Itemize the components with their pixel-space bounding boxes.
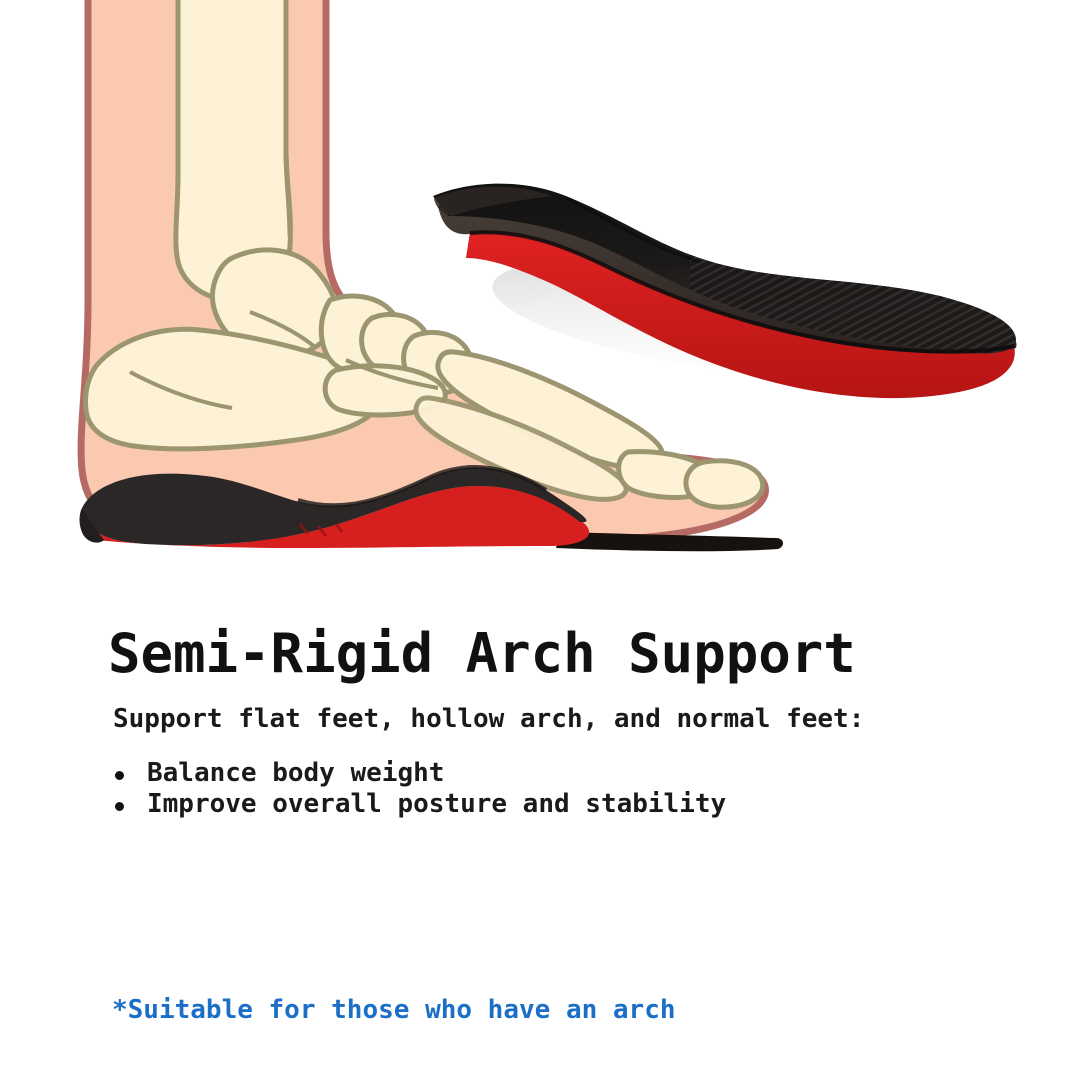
product-info-card: Semi-Rigid Arch Support Support flat fee… <box>0 0 1080 1080</box>
list-item: Improve overall posture and stability <box>113 789 726 820</box>
list-item-label: Improve overall posture and stability <box>147 789 726 819</box>
text-block: Semi-Rigid Arch Support Support flat fee… <box>0 600 1080 1080</box>
bullet-dot-icon <box>115 771 124 780</box>
foot-anatomy-illustration <box>0 0 1080 600</box>
page-title: Semi-Rigid Arch Support <box>108 622 856 685</box>
suitability-note-line-1: *Suitable for those who have an arch <box>112 995 676 1026</box>
list-item: Balance body weight <box>113 758 726 789</box>
list-item-label: Balance body weight <box>147 758 444 788</box>
subtitle: Support flat feet, hollow arch, and norm… <box>113 704 864 734</box>
bullet-dot-icon <box>115 802 124 811</box>
phalanx-bone-distal <box>686 461 763 507</box>
suitability-note: *Suitable for those who have an arch hei… <box>112 933 676 1080</box>
benefits-list: Balance body weight Improve overall post… <box>113 758 726 820</box>
